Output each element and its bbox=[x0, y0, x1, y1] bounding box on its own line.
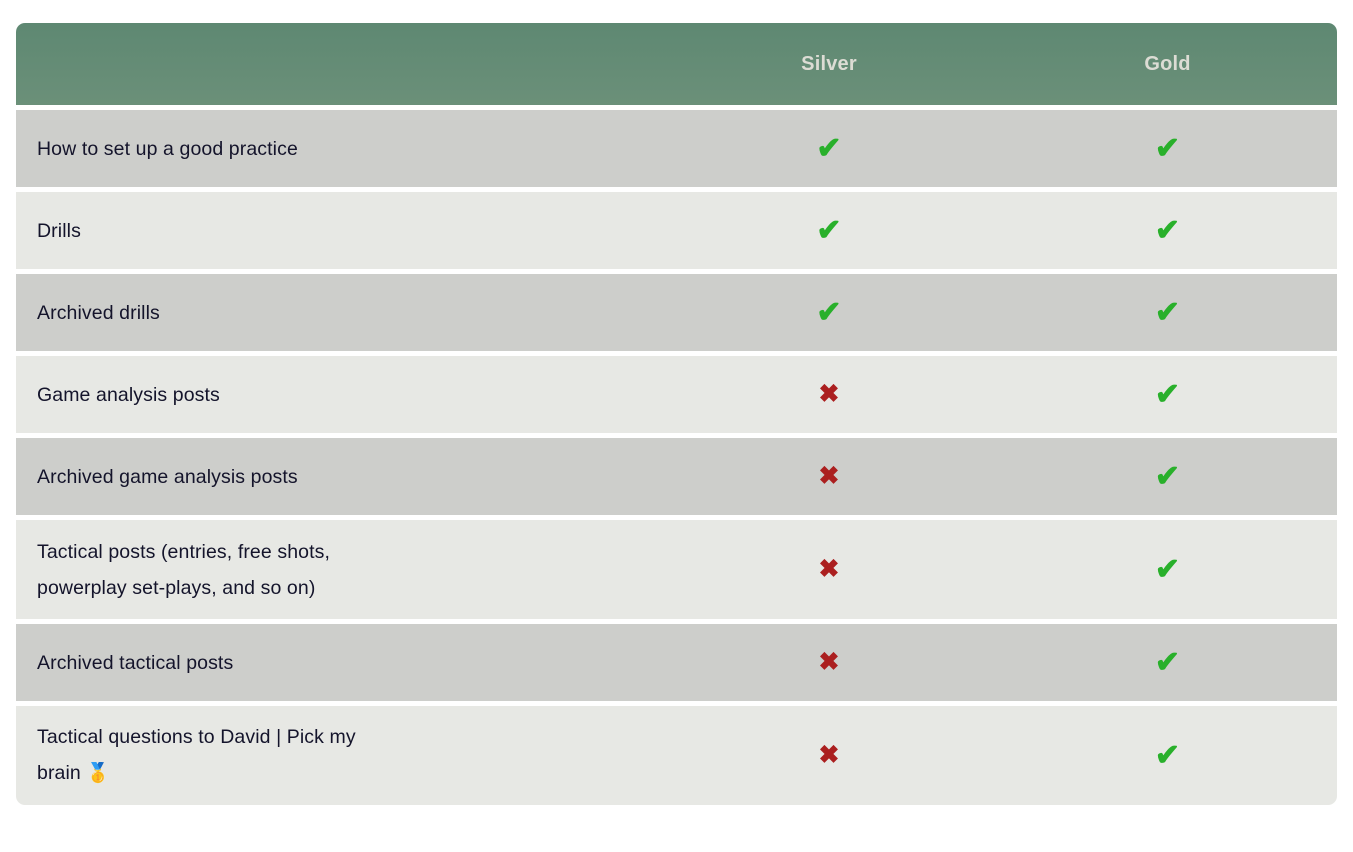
table-body: How to set up a good practice✔✔Drills✔✔A… bbox=[16, 110, 1337, 805]
check-icon: ✔ bbox=[816, 134, 841, 164]
cell-gold: ✔ bbox=[998, 555, 1337, 585]
check-icon: ✔ bbox=[1155, 648, 1180, 678]
check-icon: ✔ bbox=[816, 298, 841, 328]
check-icon: ✔ bbox=[1155, 462, 1180, 492]
cell-gold: ✔ bbox=[998, 298, 1337, 328]
table-row: Drills✔✔ bbox=[16, 192, 1337, 269]
feature-label: Game analysis posts bbox=[16, 377, 660, 413]
cell-silver: ✖ bbox=[660, 464, 998, 489]
feature-label-line2: powerplay set-plays, and so on) bbox=[37, 570, 660, 606]
feature-label-line2: brain 🥇 bbox=[37, 755, 660, 792]
cross-icon: ✖ bbox=[819, 464, 840, 489]
check-icon: ✔ bbox=[1155, 380, 1180, 410]
header-tier-gold: Gold bbox=[998, 53, 1337, 76]
check-icon: ✔ bbox=[1155, 134, 1180, 164]
feature-label-line1: Archived drills bbox=[37, 295, 660, 331]
cell-silver: ✖ bbox=[660, 557, 998, 582]
cell-gold: ✔ bbox=[998, 380, 1337, 410]
feature-label-line1: Tactical posts (entries, free shots, bbox=[37, 534, 660, 570]
gold-medal-icon: 🥇 bbox=[81, 763, 110, 784]
check-icon: ✔ bbox=[1155, 555, 1180, 585]
check-icon: ✔ bbox=[1155, 216, 1180, 246]
cell-silver: ✔ bbox=[660, 216, 998, 246]
cell-gold: ✔ bbox=[998, 216, 1337, 246]
cross-icon: ✖ bbox=[819, 557, 840, 582]
check-icon: ✔ bbox=[816, 216, 841, 246]
check-icon: ✔ bbox=[1155, 741, 1180, 771]
table-row: Game analysis posts✖✔ bbox=[16, 356, 1337, 433]
feature-label-line1: Drills bbox=[37, 213, 660, 249]
table-row: Archived drills✔✔ bbox=[16, 274, 1337, 351]
header-tier-silver: Silver bbox=[660, 53, 998, 76]
header-feature-column bbox=[16, 23, 660, 105]
cell-silver: ✔ bbox=[660, 298, 998, 328]
table-row: Tactical questions to David | Pick mybra… bbox=[16, 706, 1337, 805]
cell-gold: ✔ bbox=[998, 134, 1337, 164]
feature-label: Tactical questions to David | Pick mybra… bbox=[16, 719, 660, 792]
table-row: Archived tactical posts✖✔ bbox=[16, 624, 1337, 701]
cell-silver: ✖ bbox=[660, 650, 998, 675]
feature-label-line1: Archived game analysis posts bbox=[37, 459, 660, 495]
cross-icon: ✖ bbox=[819, 382, 840, 407]
feature-label: How to set up a good practice bbox=[16, 131, 660, 167]
cell-silver: ✔ bbox=[660, 134, 998, 164]
table-row: How to set up a good practice✔✔ bbox=[16, 110, 1337, 187]
cell-gold: ✔ bbox=[998, 741, 1337, 771]
feature-label-line1: Archived tactical posts bbox=[37, 645, 660, 681]
cell-gold: ✔ bbox=[998, 462, 1337, 492]
feature-label-line1: Tactical questions to David | Pick my bbox=[37, 719, 660, 755]
feature-label: Tactical posts (entries, free shots,powe… bbox=[16, 534, 660, 606]
cell-gold: ✔ bbox=[998, 648, 1337, 678]
cell-silver: ✖ bbox=[660, 382, 998, 407]
feature-label: Drills bbox=[16, 213, 660, 249]
feature-label-line1: How to set up a good practice bbox=[37, 131, 660, 167]
feature-label: Archived tactical posts bbox=[16, 645, 660, 681]
table-row: Archived game analysis posts✖✔ bbox=[16, 438, 1337, 515]
table-row: Tactical posts (entries, free shots,powe… bbox=[16, 520, 1337, 619]
table-header-row: Silver Gold bbox=[16, 23, 1337, 105]
cross-icon: ✖ bbox=[819, 650, 840, 675]
feature-label: Archived game analysis posts bbox=[16, 459, 660, 495]
check-icon: ✔ bbox=[1155, 298, 1180, 328]
tier-comparison-table: Silver Gold How to set up a good practic… bbox=[16, 23, 1337, 805]
cross-icon: ✖ bbox=[819, 743, 840, 768]
feature-label-line1: Game analysis posts bbox=[37, 377, 660, 413]
cell-silver: ✖ bbox=[660, 743, 998, 768]
feature-label: Archived drills bbox=[16, 295, 660, 331]
